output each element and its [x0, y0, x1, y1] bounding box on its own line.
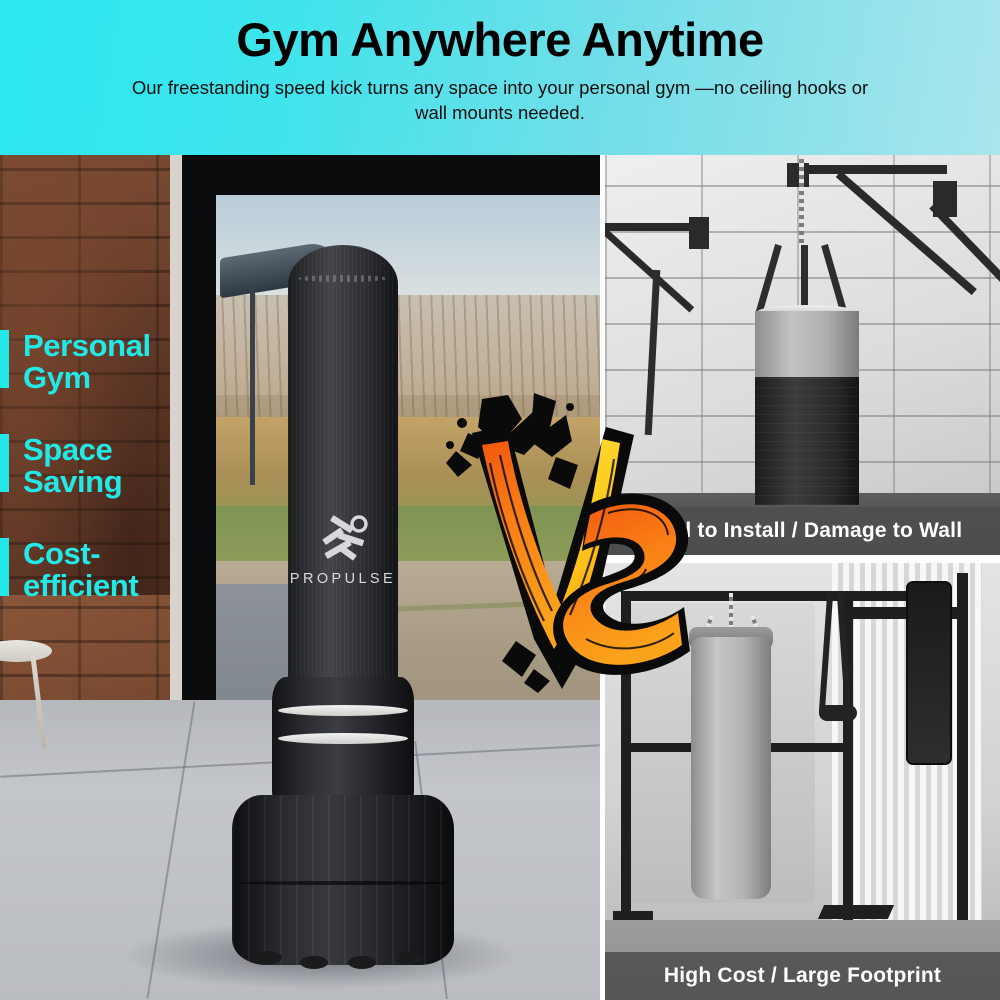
product-marketing-poster: Gym Anywhere Anytime Our freestanding sp…	[0, 0, 1000, 1000]
feature-item-space-saving: Space Saving	[0, 434, 215, 498]
accent-bar-icon	[0, 434, 9, 492]
hero-product-photo: PROPULSE	[0, 155, 600, 1000]
rig-crossbar	[763, 743, 845, 752]
rig-hanging-bag	[691, 637, 771, 899]
bag-column	[288, 245, 398, 745]
brand-logo: PROPULSE	[282, 515, 404, 587]
feature-label: Personal Gym	[23, 330, 151, 394]
hanging-chain	[799, 155, 804, 247]
feature-list: Personal Gym Space Saving Cost- efficien…	[0, 330, 215, 642]
brand-name: PROPULSE	[282, 571, 404, 587]
page-subtitle: Our freestanding speed kick turns any sp…	[120, 75, 880, 126]
comparison-photo-wall-mounted: Hard to Install / Damage to Wall	[605, 155, 1000, 555]
rig-top-beam	[621, 591, 921, 601]
hanging-bag-lower	[755, 377, 859, 505]
bag-collar	[272, 677, 414, 807]
canopy-post	[250, 285, 255, 485]
feature-item-cost-efficient: Cost- efficient	[0, 538, 215, 602]
running-figure-logo-icon	[316, 515, 370, 565]
trx-handle	[819, 705, 857, 721]
caption-band: Hard to Install / Damage to Wall	[605, 507, 1000, 555]
weighted-base	[232, 795, 454, 965]
caption-text: Hard to Install / Damage to Wall	[643, 519, 963, 543]
wall-bracket-plate	[689, 217, 709, 249]
caption-band: High Cost / Large Footprint	[605, 952, 1000, 1000]
comparison-photo-gym-rig: High Cost / Large Footprint	[605, 563, 1000, 1000]
accent-bar-icon	[0, 330, 9, 388]
rig-upright	[621, 591, 631, 921]
rig-upright	[957, 573, 968, 953]
hanging-bag-upper	[755, 311, 859, 379]
rig-base-foot	[818, 905, 894, 919]
wall-bracket-beam	[787, 165, 947, 174]
wall-bracket-arm	[605, 223, 691, 231]
accent-bar-icon	[0, 538, 9, 596]
freestanding-punching-bag: PROPULSE	[282, 245, 404, 805]
poster-body: PROPULSE	[0, 155, 1000, 1000]
suction-feet	[244, 951, 444, 969]
stool	[0, 640, 54, 760]
poster-header: Gym Anywhere Anytime Our freestanding sp…	[0, 0, 1000, 155]
bag-top-stitching	[298, 275, 388, 282]
reflective-stripe	[278, 733, 408, 744]
feature-item-personal-gym: Personal Gym	[0, 330, 215, 394]
feature-label: Cost- efficient	[23, 538, 138, 602]
wall-bracket-plate	[787, 163, 809, 187]
caption-text: High Cost / Large Footprint	[664, 964, 941, 988]
page-title: Gym Anywhere Anytime	[236, 14, 763, 66]
feature-label: Space Saving	[23, 434, 122, 498]
reflective-stripe	[278, 705, 408, 716]
outdoor-view	[216, 195, 600, 750]
rig-display-screen	[906, 581, 952, 765]
